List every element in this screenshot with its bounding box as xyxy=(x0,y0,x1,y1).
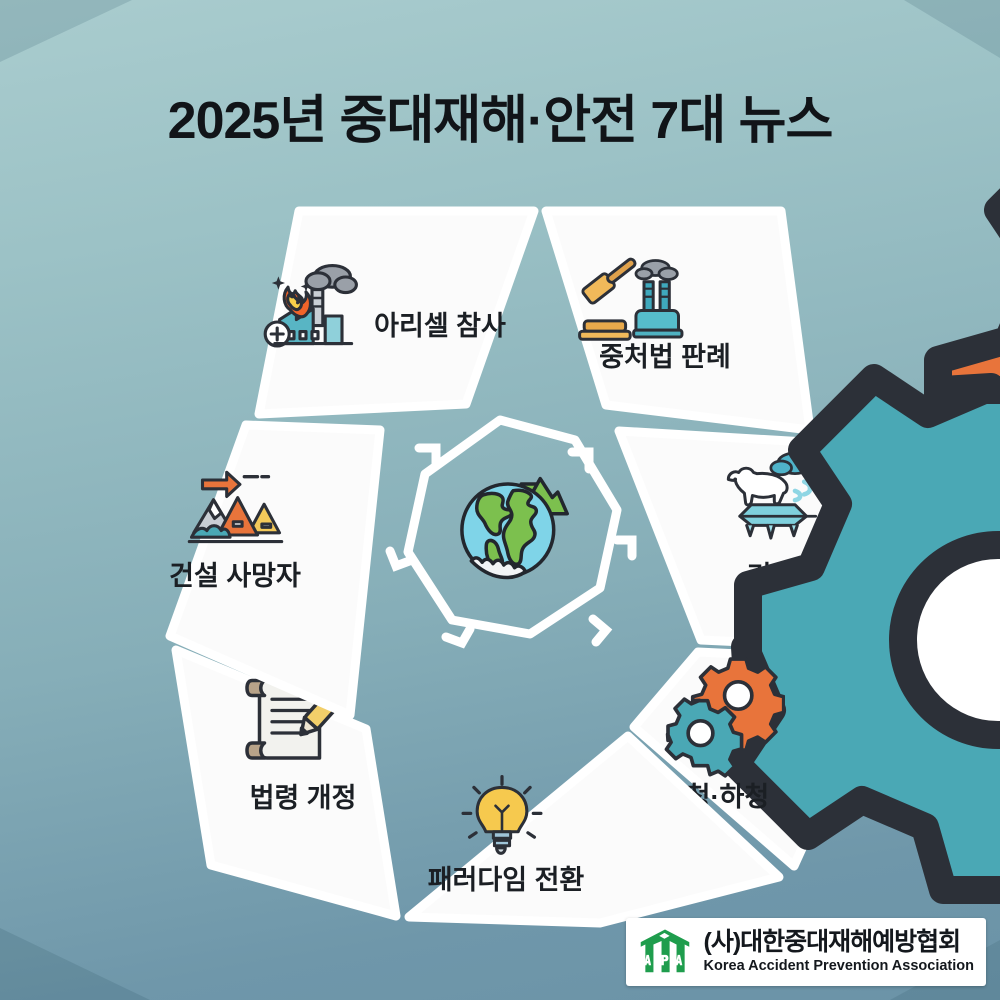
center-heptagon xyxy=(390,420,632,643)
heptagon-wheel-diagram: 아리셀 참사 중처법 판례 기후 위기 원청·하청 xyxy=(0,0,1000,1000)
segment-serious-accident-law[interactable]: 중처법 판례 xyxy=(546,211,810,430)
infographic-poster: 2025년 중대재해·안전 7대 뉴스 xyxy=(0,0,1000,1000)
association-logo: (사)대한중대재해예방협회 Korea Accident Prevention … xyxy=(626,918,986,986)
segment-label: 중처법 판례 xyxy=(599,342,731,372)
segment-label: 법령 개정 xyxy=(250,783,357,813)
apa-cube-logomark xyxy=(636,926,694,978)
segment-label: 패러다임 전환 xyxy=(428,865,585,895)
logo-english-name: Korea Accident Prevention Association xyxy=(704,959,974,974)
segment-label: 아리셀 참사 xyxy=(374,311,506,341)
logo-korean-name: (사)대한중대재해예방협회 xyxy=(704,930,974,955)
segment-ariselle-disaster[interactable]: 아리셀 참사 xyxy=(259,211,534,414)
segment-label: 건설 사망자 xyxy=(169,561,301,591)
wheel-segments: 아리셀 참사 중처법 판례 기후 위기 원청·하청 xyxy=(169,70,1000,968)
earth-globe-icon xyxy=(462,479,567,578)
